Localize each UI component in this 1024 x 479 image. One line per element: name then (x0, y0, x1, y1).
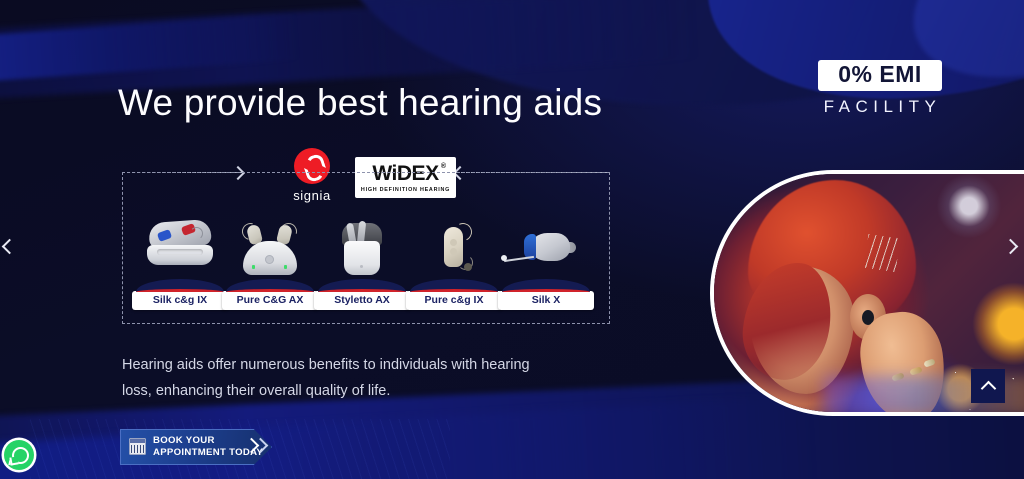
hero-slide: We provide best hearing aids 0% EMI FACI… (0, 0, 1024, 479)
product-list: Silk c&g IX Pure C&G AX (122, 215, 608, 325)
whatsapp-icon (8, 458, 15, 467)
product-banner (502, 279, 590, 292)
carousel-prev-button[interactable] (0, 237, 22, 259)
product-image-silk-cg-ix (132, 215, 228, 277)
emi-badge-top: 0% EMI (818, 60, 942, 91)
emi-badge: 0% EMI FACILITY (818, 60, 942, 117)
product-card-silk-x[interactable]: Silk X (498, 215, 594, 310)
scroll-to-top-button[interactable] (971, 369, 1005, 403)
carousel-next-button[interactable] (1001, 237, 1023, 259)
product-label: Pure C&G AX (222, 291, 318, 310)
product-banner (226, 279, 314, 292)
product-image-pure-cg-ix (406, 215, 502, 277)
product-card-pure-cg-ix[interactable]: Pure c&g IX (406, 215, 502, 310)
product-card-styletto-ax[interactable]: Styletto AX (314, 215, 410, 310)
hero-description: Hearing aids offer numerous benefits to … (122, 352, 542, 404)
product-banner (136, 279, 224, 292)
hero-description-line-1: Hearing aids offer numerous benefits to … (122, 352, 542, 378)
chevron-right-icon (1003, 239, 1019, 255)
hero-description-line-2: loss, enhancing their overall quality of… (122, 378, 542, 404)
chevron-up-icon (981, 381, 997, 397)
widex-trademark-icon: ® (441, 163, 446, 170)
product-label: Styletto AX (314, 291, 410, 310)
product-image-silk-x (498, 215, 594, 277)
calendar-icon (129, 438, 146, 455)
product-image-styletto-ax (314, 215, 410, 277)
product-label: Silk X (498, 291, 594, 310)
book-appointment-button[interactable]: BOOK YOUR APPOINTMENT TODAY (120, 429, 272, 465)
product-label: Pure c&g IX (406, 291, 502, 310)
whatsapp-button[interactable] (4, 440, 34, 470)
product-image-pure-cg-ax (222, 215, 318, 277)
chevron-left-icon (2, 239, 18, 255)
product-label: Silk c&g IX (132, 291, 228, 310)
product-card-silk-cg-ix[interactable]: Silk c&g IX (132, 215, 228, 310)
emi-badge-bottom: FACILITY (818, 97, 942, 117)
product-banner (318, 279, 406, 292)
page-title: We provide best hearing aids (118, 82, 602, 124)
product-banner (410, 279, 498, 292)
product-card-pure-cg-ax[interactable]: Pure C&G AX (222, 215, 318, 310)
